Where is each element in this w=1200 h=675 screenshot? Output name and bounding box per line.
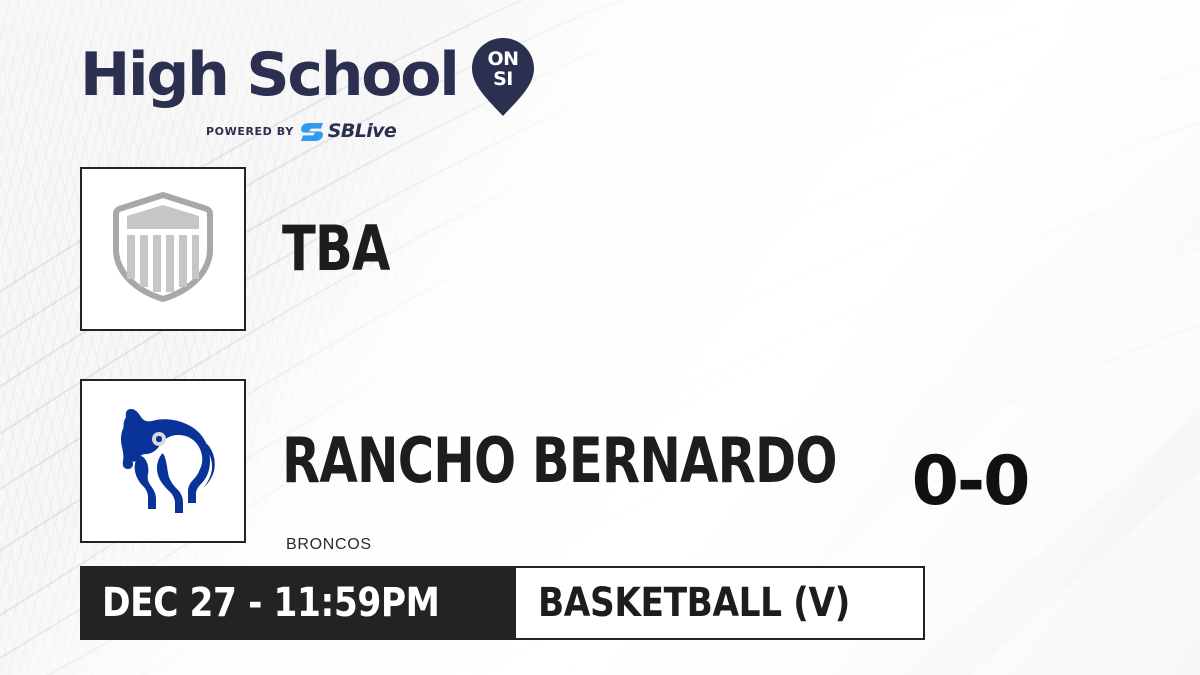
game-datetime-chip: DEC 27 - 11:59PM [80,566,516,640]
on-si-pin-icon: ON SI [472,38,534,116]
powered-by-row: POWERED BY SBLive [80,122,510,141]
bronco-horse-icon [104,399,222,524]
powered-by-label: POWERED BY [206,125,294,138]
matchup-teams: TBA RANCHO BERN [80,167,975,543]
shield-placeholder-icon [111,191,215,308]
sblive-wordmark: SBLive [328,122,396,141]
team-row: RANCHO BERNARDO [80,379,975,543]
score-display: 0-0 [860,448,1080,516]
wordmark: High School ON SI [80,36,510,116]
game-datetime-text: DEC 27 - 11:59PM [102,583,439,623]
sblive-logo: SBLive [301,122,396,141]
team-name: RANCHO BERNARDO [282,430,837,492]
sblive-s-mark-icon [301,123,325,141]
brand-header: High School ON SI POWERED BY SBLive [80,36,510,141]
team-name: TBA [282,218,390,280]
game-sport-chip: BASKETBALL (V) [516,566,925,640]
team-logo-box [80,379,246,543]
game-sport-text: BASKETBALL (V) [538,583,850,623]
team-row: TBA [80,167,975,331]
team-mascot-label: BRONCOS [286,536,372,554]
game-info-bar: DEC 27 - 11:59PM BASKETBALL (V) [80,566,925,640]
wordmark-text: High School [80,48,458,103]
matchup-graphic: High School ON SI POWERED BY SBLive [0,0,1200,675]
pin-line2: SI [493,68,513,90]
team-logo-box [80,167,246,331]
pin-line1: ON [487,48,518,70]
